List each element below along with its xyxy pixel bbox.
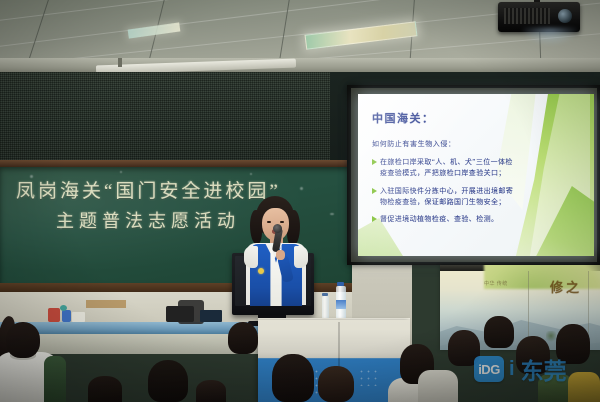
triangle-bullet-icon [372, 188, 377, 194]
student-backpack [44, 356, 66, 402]
ceiling-fascia [0, 58, 600, 72]
classroom-photo: 凤岗海关“国门安全进校园” 主题普法志愿活动 中国海关： 如何防止有害生物入侵：… [0, 0, 600, 402]
speaker-shoulder-right [294, 246, 308, 268]
desk-equipment [166, 306, 194, 322]
projection-screen-frame: 中国海关： 如何防止有害生物入侵： 在旅检口岸采取“人、机、犬”三位一体检疫查验… [347, 85, 600, 265]
student-head [272, 354, 314, 402]
speaker-badge [258, 268, 264, 274]
watermark: iDG i 东莞 [474, 352, 567, 386]
desk-item-teal [60, 305, 67, 311]
speaker-hand [276, 250, 285, 260]
poster-small-calligraphy: 中华 传统 [484, 282, 508, 289]
student-head [148, 360, 188, 402]
speaker-eye-left [267, 221, 271, 223]
speaker-eye-right [280, 221, 284, 223]
slide-bullet-text: 入驻国际快件分拣中心，开展进出境邮寄物检疫查验，保证邮路国门生物安全； [380, 186, 516, 208]
watermark-label: 东莞 [521, 352, 567, 386]
speaker-shoulder-left [244, 246, 258, 268]
desk-cardboard [86, 300, 126, 308]
speaker-hair-left [250, 210, 262, 244]
speaker-presenter [232, 196, 318, 316]
student-head [6, 322, 40, 358]
presentation-slide: 中国海关： 如何防止有害生物入侵： 在旅检口岸采取“人、机、犬”三位一体检疫查验… [358, 94, 594, 256]
microphone-head-icon [273, 224, 282, 233]
projector-light-glow [520, 28, 580, 46]
triangle-bullet-icon [372, 159, 377, 165]
speaker-hair-right [287, 210, 300, 246]
idg-logo: iDG [474, 356, 504, 382]
student-uniform [568, 372, 600, 402]
desk-item-blue [62, 310, 71, 322]
projector-lens-icon [558, 9, 572, 23]
water-bottle [322, 296, 329, 320]
slide-title: 中国海关： [372, 110, 516, 126]
desk-item-white [72, 312, 85, 322]
bottle-label [336, 300, 346, 309]
student-uniform [418, 370, 458, 402]
bottle-cap [337, 282, 344, 286]
bottle-cap [322, 293, 328, 296]
slide-subtitle: 如何防止有害生物入侵： [372, 139, 516, 149]
poster-calligraphy: 修之 [550, 277, 582, 296]
student-head [484, 316, 514, 348]
slide-content: 中国海关： 如何防止有害生物入侵： 在旅检口岸采取“人、机、犬”三位一体检疫查验… [372, 110, 516, 232]
poster-tree [546, 331, 556, 343]
student-head [196, 380, 226, 402]
podium-perforation-pattern [358, 368, 380, 386]
slide-bullet-text: 在旅检口岸采取“人、机、犬”三位一体检疫查验模式，严把旅检口岸查验关口； [380, 157, 516, 179]
student-head [228, 322, 258, 354]
student-head [318, 366, 354, 402]
blackboard-subline: 主题普法志愿活动 [56, 207, 240, 233]
watermark-separator: i [509, 358, 515, 381]
projector-vent [504, 8, 550, 24]
batten-clip [118, 58, 122, 67]
slide-bullet-item: 督促进境动植物检疫、查验、检测。 [372, 214, 516, 225]
slide-bullet-text: 督促进境动植物检疫、查验、检测。 [380, 214, 498, 225]
desk-box [200, 310, 222, 322]
triangle-bullet-icon [372, 216, 377, 222]
student-head [88, 376, 122, 402]
desk-item-red [48, 308, 60, 322]
slide-bullet-item: 在旅检口岸采取“人、机、犬”三位一体检疫查验模式，严把旅检口岸查验关口； [372, 157, 516, 179]
slide-bullet-item: 入驻国际快件分拣中心，开展进出境邮寄物检疫查验，保证邮路国门生物安全； [372, 186, 516, 208]
